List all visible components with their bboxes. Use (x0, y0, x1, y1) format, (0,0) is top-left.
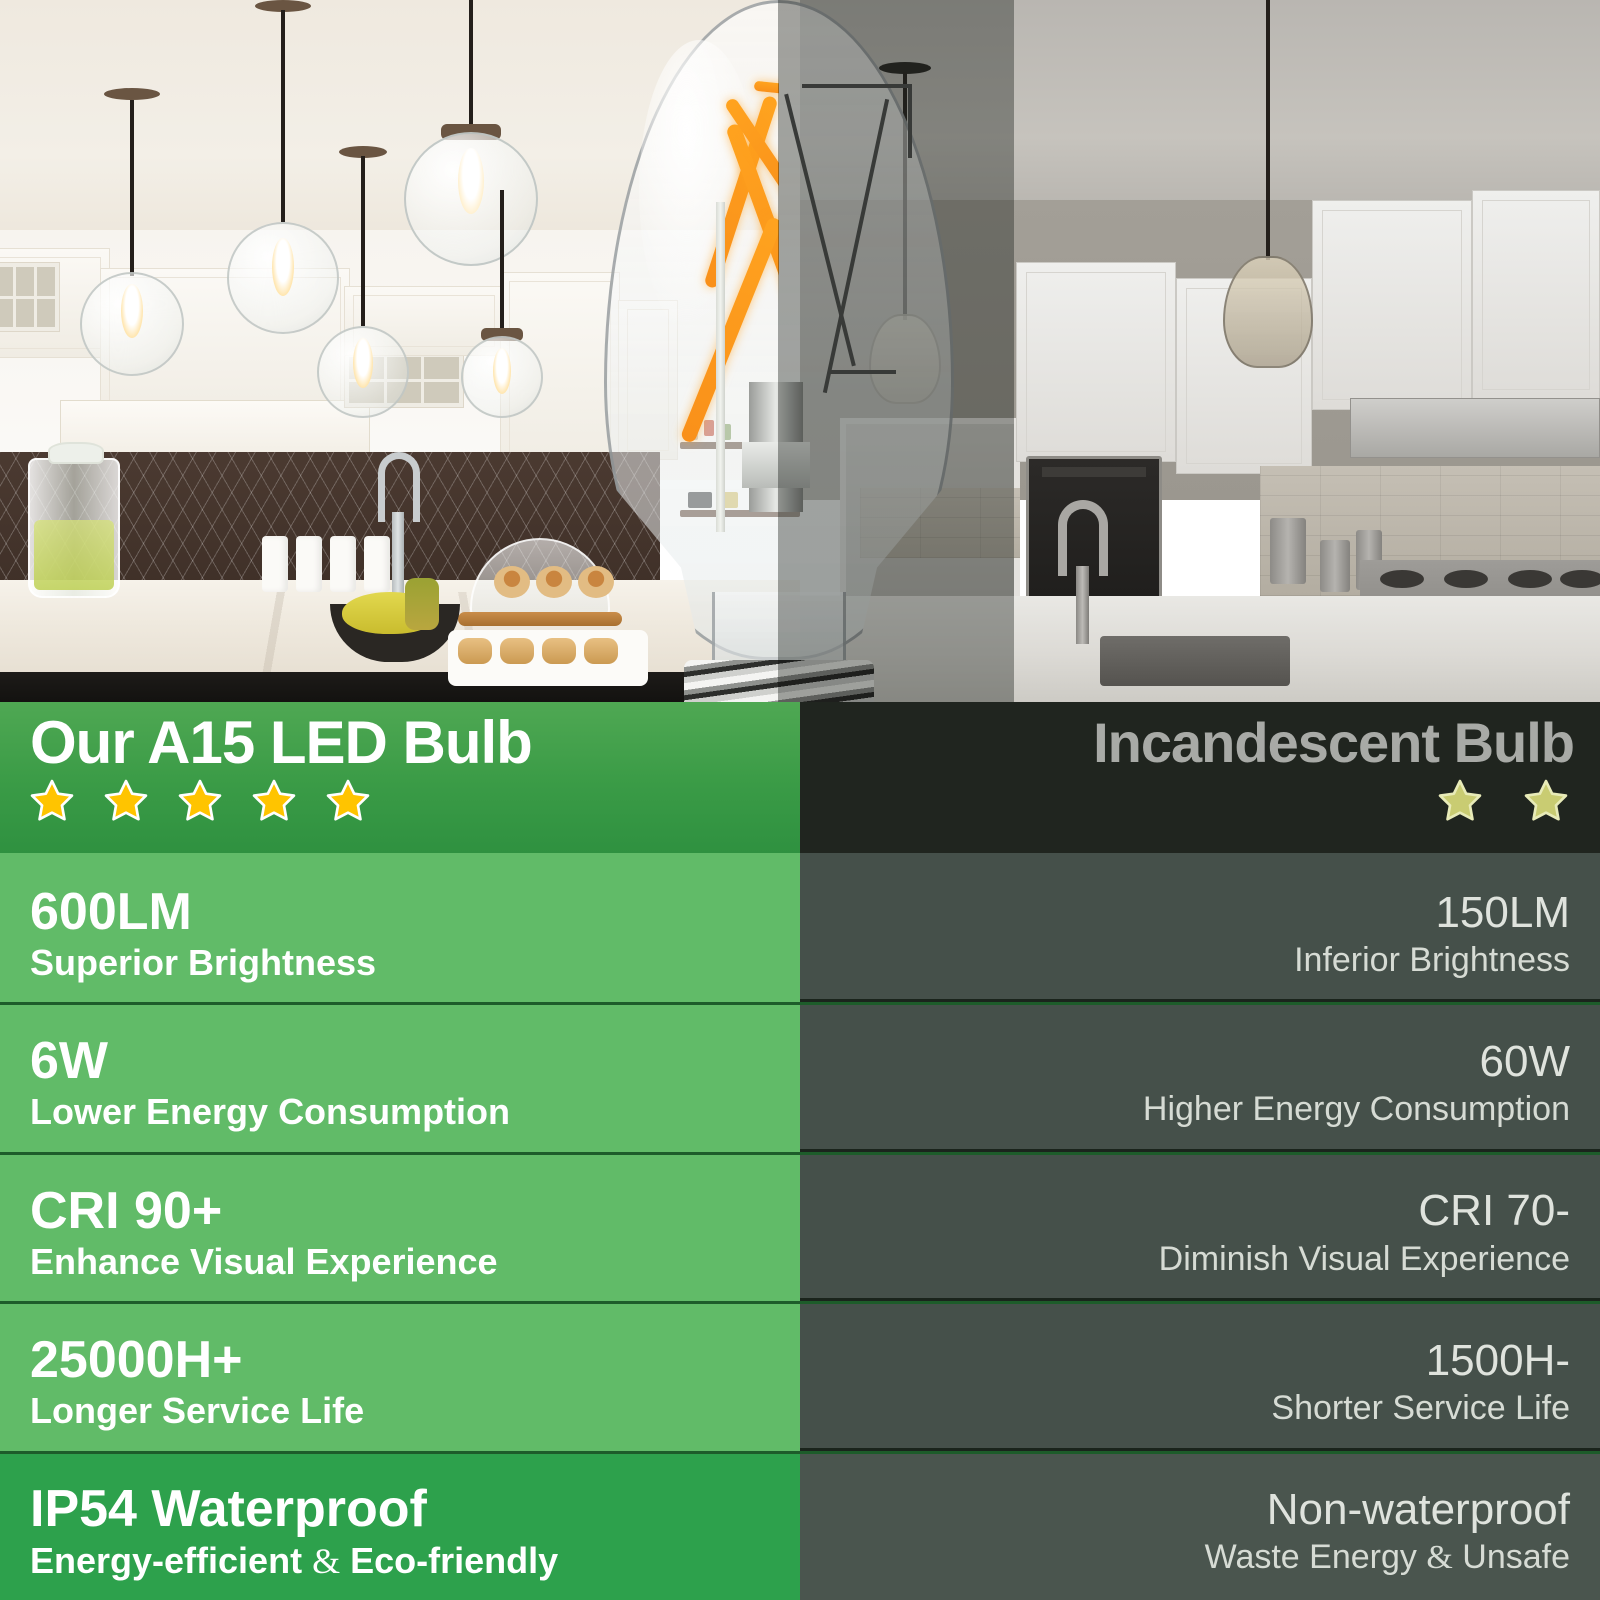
cabinet (1472, 190, 1600, 400)
label: Superior Brightness (30, 942, 376, 984)
value: IP54 Waterproof (30, 1482, 427, 1537)
pendant-filament (272, 238, 294, 296)
value: 150LM (1435, 889, 1570, 937)
comparison-table: 600LM Superior Brightness 150LM Inferior… (0, 853, 1600, 1600)
glass-cabinet (0, 262, 60, 332)
pineapple (405, 578, 439, 630)
pendant-cord (1266, 0, 1270, 260)
split-bulb-graphic (544, 0, 1014, 702)
rating-stars-incandescent (1436, 778, 1570, 824)
star-icon (250, 778, 298, 824)
faucet-stem (392, 512, 404, 604)
label: Lower Energy Consumption (30, 1091, 510, 1133)
value: 600LM (30, 885, 192, 940)
undermount-sink (1100, 636, 1290, 686)
canisters (262, 536, 390, 592)
ampersand: & (312, 1541, 340, 1581)
star-icon (324, 778, 372, 824)
range-hood (1350, 398, 1600, 458)
led-stem (716, 202, 725, 532)
pendant-cord (281, 10, 285, 222)
table-row: CRI 90+ Enhance Visual Experience CRI 70… (0, 1152, 1600, 1301)
label: Longer Service Life (30, 1390, 364, 1432)
lemon-water (34, 520, 114, 590)
cell-led-cri: CRI 90+ Enhance Visual Experience (0, 1152, 800, 1301)
label: Shorter Service Life (1271, 1388, 1570, 1429)
pendant-filament (353, 338, 373, 388)
table-row: 6W Lower Energy Consumption 60W Higher E… (0, 1002, 1600, 1151)
cell-inc-watts: 60W Higher Energy Consumption (800, 1002, 1600, 1151)
table-row: 600LM Superior Brightness 150LM Inferior… (0, 853, 1600, 1002)
label: Diminish Visual Experience (1159, 1239, 1570, 1280)
comparison-infographic: Our A15 LED Bulb Incandescent Bulb 600LM… (0, 0, 1600, 1600)
cell-inc-waterproof: Non-waterproof Waste Energy & Unsafe (800, 1451, 1600, 1600)
cell-led-lifetime: 25000H+ Longer Service Life (0, 1301, 800, 1450)
pendant-cord (469, 0, 473, 130)
label-part-a: Waste Energy (1205, 1538, 1417, 1576)
label-part-a: Energy-efficient (30, 1540, 302, 1581)
value: Non-waterproof (1267, 1486, 1570, 1534)
value: CRI 70- (1418, 1187, 1570, 1235)
header-title-led: Our A15 LED Bulb (30, 708, 532, 777)
pendant-canopy (104, 88, 160, 100)
label: Energy-efficient & Eco-friendly (30, 1540, 558, 1582)
star-icon (1522, 778, 1570, 824)
jar-lid (48, 442, 104, 464)
header-title-incandescent: Incandescent Bulb (1093, 710, 1574, 775)
value: CRI 90+ (30, 1184, 222, 1239)
cabinet (1312, 200, 1472, 410)
star-icon (102, 778, 150, 824)
cell-inc-cri: CRI 70- Diminish Visual Experience (800, 1152, 1600, 1301)
label-part-b: Unsafe (1462, 1538, 1570, 1576)
kitchen-faucet (1058, 500, 1108, 640)
label-part-b: Eco-friendly (350, 1540, 558, 1581)
cell-led-waterproof: IP54 Waterproof Energy-efficient & Eco-f… (0, 1451, 800, 1600)
value: 1500H- (1426, 1337, 1570, 1385)
cell-led-lumens: 600LM Superior Brightness (0, 853, 800, 1002)
label: Higher Energy Consumption (1143, 1089, 1570, 1130)
canister (1320, 540, 1350, 592)
star-icon (1436, 778, 1484, 824)
pendant-cord (500, 190, 504, 334)
value: 6W (30, 1034, 108, 1089)
cell-inc-lifetime: 1500H- Shorter Service Life (800, 1301, 1600, 1450)
label: Waste Energy & Unsafe (1205, 1537, 1570, 1579)
incandescent-mount-box (742, 442, 810, 488)
beverage-dispenser (28, 458, 120, 598)
star-icon (176, 778, 224, 824)
ampersand: & (1426, 1539, 1452, 1576)
rating-stars-led (28, 778, 372, 824)
e26-screw-base (684, 660, 874, 702)
value: 60W (1480, 1038, 1570, 1086)
faucet-arc (1058, 500, 1108, 576)
pendant-cord (130, 100, 134, 276)
value: 25000H+ (30, 1333, 243, 1388)
table-row: 25000H+ Longer Service Life 1500H- Short… (0, 1301, 1600, 1450)
photo-strip (0, 0, 1600, 702)
pendant-cord (361, 156, 365, 326)
pendant-light-1 (72, 88, 192, 368)
canister (1270, 518, 1306, 584)
faucet-stem (1076, 566, 1089, 644)
pendant-light-2 (1208, 0, 1328, 320)
pendant-filament (493, 348, 511, 394)
star-icon (28, 778, 76, 824)
label: Inferior Brightness (1294, 940, 1570, 981)
cell-led-watts: 6W Lower Energy Consumption (0, 1002, 800, 1151)
pendant-shade (1223, 256, 1313, 368)
label: Enhance Visual Experience (30, 1241, 498, 1283)
cabinet (1016, 262, 1176, 462)
pendant-light-5 (452, 190, 552, 430)
cell-inc-lumens: 150LM Inferior Brightness (800, 853, 1600, 1002)
pendant-filament (121, 284, 143, 338)
table-row: IP54 Waterproof Energy-efficient & Eco-f… (0, 1451, 1600, 1600)
